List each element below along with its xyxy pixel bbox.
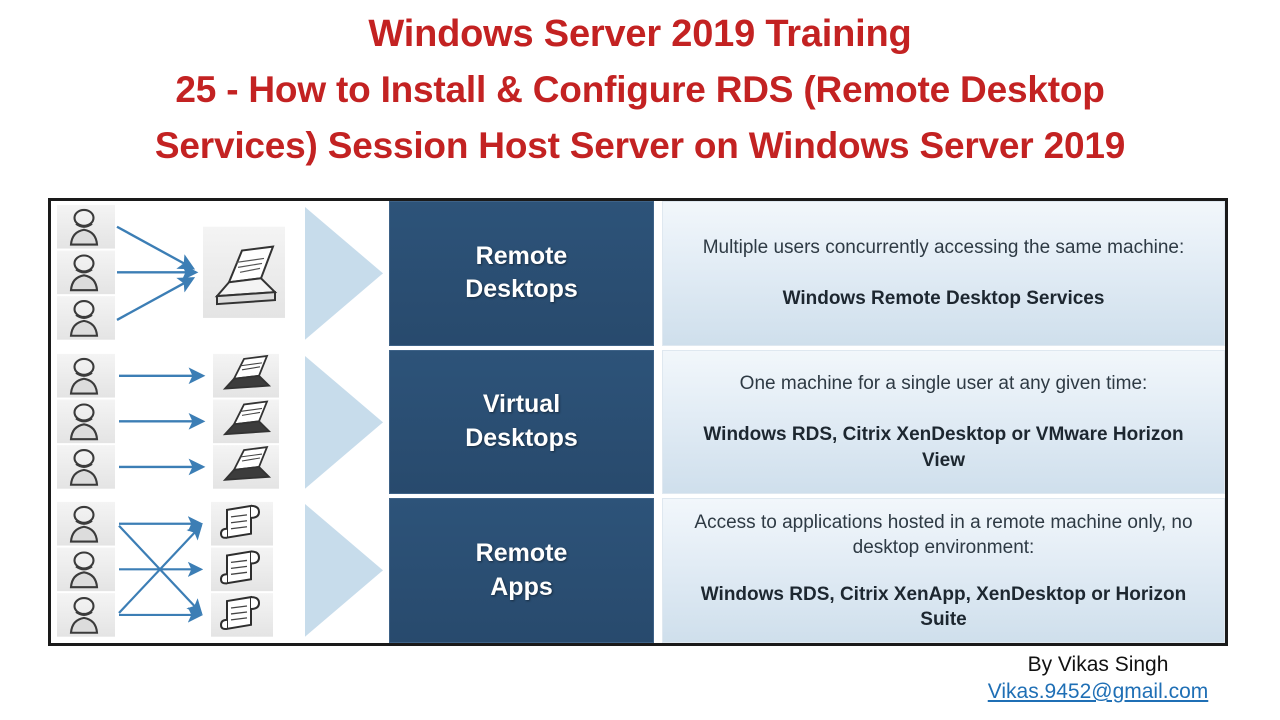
category-box-remote-apps[interactable]: Remote Apps [389, 498, 654, 643]
flow-arrow-3 [299, 498, 389, 643]
category-line-2: Apps [476, 571, 568, 605]
flow-arrow-2 [299, 350, 389, 495]
parallel-arrows [119, 375, 203, 466]
category-label: Remote Apps [468, 537, 576, 605]
category-box-virtual-desktops[interactable]: Virtual Desktops [389, 350, 654, 495]
description-products: Windows RDS, Citrix XenApp, XenDesktop o… [689, 582, 1198, 632]
document-scroll-icon-group [211, 502, 273, 637]
triangle-arrow-icon [305, 356, 383, 489]
description-products: Windows RDS, Citrix XenDesktop or VMware… [689, 422, 1198, 472]
category-label: Virtual Desktops [457, 388, 586, 456]
topology-one-to-one [51, 350, 299, 495]
rds-comparison-diagram: Remote Desktops Multiple users concurren… [48, 198, 1228, 646]
category-line-1: Remote [465, 240, 578, 274]
laptop-icon [203, 227, 285, 318]
user-icon-group [57, 205, 115, 340]
category-line-2: Desktops [465, 273, 578, 307]
description-box-remote-apps: Access to applications hosted in a remot… [662, 498, 1225, 643]
title-line-2: 25 - How to Install & Configure RDS (Rem… [0, 62, 1280, 118]
description-box-remote-desktops: Multiple users concurrently accessing th… [662, 201, 1225, 346]
diagram-row-remote-apps: Remote Apps Access to applications hoste… [51, 498, 1225, 643]
page-title: Windows Server 2019 Training 25 - How to… [0, 6, 1280, 174]
user-icon-group [57, 502, 115, 637]
category-line-1: Remote [476, 537, 568, 571]
spacer [654, 498, 662, 643]
description-summary: Multiple users concurrently accessing th… [703, 235, 1185, 260]
author-email-link[interactable]: Vikas.9452@gmail.com [988, 678, 1209, 705]
category-label: Remote Desktops [457, 240, 586, 308]
description-products: Windows Remote Desktop Services [783, 286, 1105, 311]
title-line-3: Services) Session Host Server on Windows… [0, 118, 1280, 174]
flow-arrow-1 [299, 201, 389, 346]
footer-credit: By Vikas Singh Vikas.9452@gmail.com [978, 652, 1218, 705]
diagram-row-remote-desktops: Remote Desktops Multiple users concurren… [51, 201, 1225, 346]
title-line-1: Windows Server 2019 Training [0, 6, 1280, 62]
topology-cross-mesh [51, 498, 299, 643]
converging-arrows [117, 227, 196, 320]
spacer [654, 201, 662, 346]
topology-many-to-one [51, 201, 299, 346]
triangle-arrow-icon [305, 207, 383, 340]
triangle-arrow-icon [305, 504, 383, 637]
category-line-1: Virtual [465, 388, 578, 422]
category-box-remote-desktops[interactable]: Remote Desktops [389, 201, 654, 346]
description-box-virtual-desktops: One machine for a single user at any giv… [662, 350, 1225, 495]
description-summary: One machine for a single user at any giv… [740, 371, 1148, 396]
user-icon-group [57, 354, 115, 489]
category-line-2: Desktops [465, 422, 578, 456]
author-name: By Vikas Singh [978, 652, 1218, 678]
description-summary: Access to applications hosted in a remot… [689, 510, 1198, 560]
diagram-row-virtual-desktops: Virtual Desktops One machine for a singl… [51, 350, 1225, 495]
spacer [654, 350, 662, 495]
laptop-icon-group [213, 354, 279, 489]
cross-arrows [119, 524, 201, 615]
